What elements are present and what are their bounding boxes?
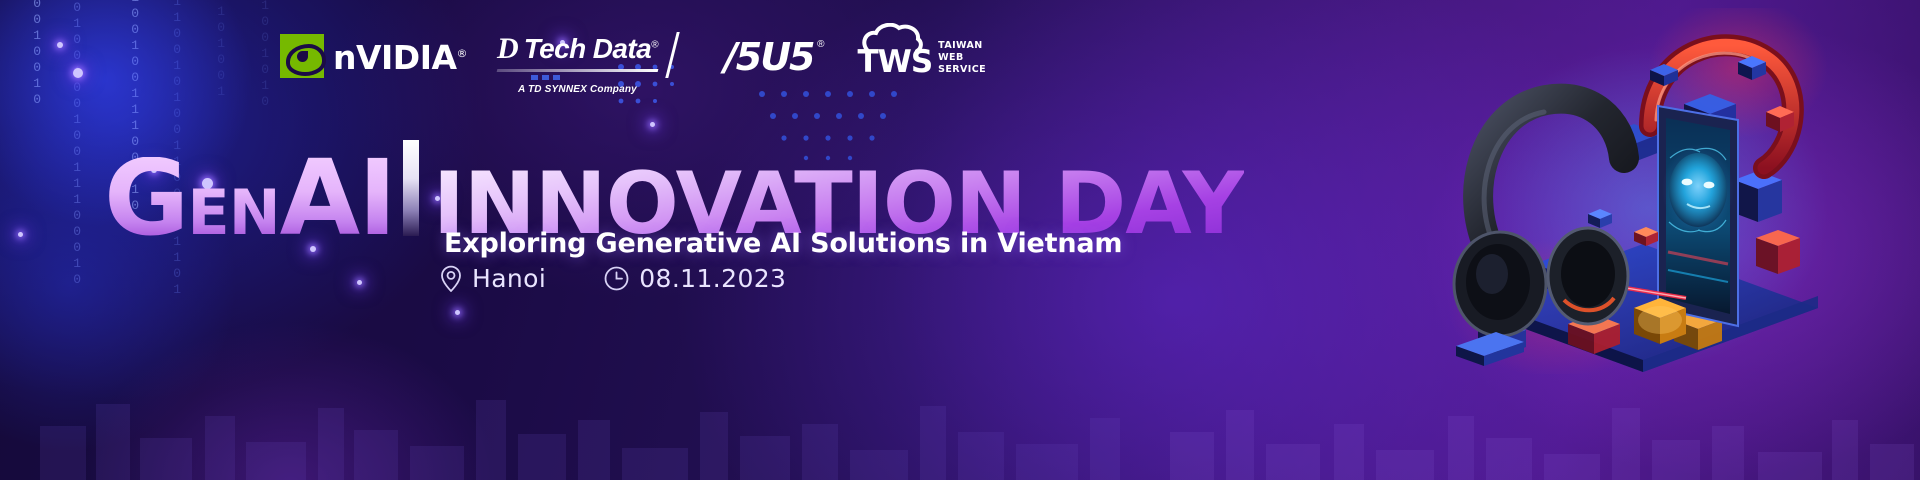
tws-subline-3: SERVICE [938, 64, 986, 76]
sparkle [57, 42, 63, 48]
nvidia-trademark: ® [457, 47, 468, 60]
event-meta-row: Hanoi 08.11.2023 [440, 264, 786, 293]
genai-innovation-day-banner: 0010010 1010010010011100010 100100111000… [0, 0, 1920, 480]
logo-nvidia[interactable]: nVIDIA® [280, 34, 467, 78]
headline-block: GENAI INNOVATION DAY [104, 140, 1244, 240]
genai-wordmark: GENAI [104, 157, 395, 240]
asus-wordmark: /5U5 [724, 35, 814, 79]
logo-techdata[interactable]: D Tech Data® A TD SYNNEX Company [497, 34, 676, 95]
binary-column: 1001010 [258, 0, 272, 110]
binary-column: 0101001 [214, 0, 228, 100]
location-pin-icon [440, 265, 462, 292]
sparkle [650, 122, 655, 127]
asus-registered: ® [817, 39, 824, 50]
techdata-wordmark: Tech Data® [524, 35, 658, 63]
techdata-underbar [497, 69, 659, 72]
sparkle [73, 68, 83, 78]
techdata-tagline: A TD SYNNEX Company [497, 84, 658, 95]
purple-glow-bottom-left [80, 320, 500, 480]
tablet-with-ai-face [1658, 106, 1738, 326]
meta-location: Hanoi [440, 264, 546, 293]
logo-asus[interactable]: /5U5 ® [724, 38, 814, 76]
headline-divider-bar [403, 140, 419, 236]
binary-column: 1010010010011100010 [70, 0, 84, 288]
meta-date-label: 08.11.2023 [639, 264, 786, 293]
nvidia-wordmark: nVIDIA® [333, 41, 467, 74]
city-skyline-silhouette [0, 330, 1200, 480]
tws-subline-2: WEB [938, 52, 986, 64]
event-subtitle: Exploring Generative AI Solutions in Vie… [444, 228, 1122, 259]
techdata-slash-accent [665, 32, 679, 78]
techdata-square-accents [531, 75, 658, 80]
clock-icon [604, 266, 629, 291]
sparkle [357, 280, 362, 285]
techdata-d-mark: D [497, 34, 518, 64]
logo-tws[interactable]: TWS TAIWAN WEB SERVICE [858, 40, 986, 78]
techdata-registered: ® [651, 40, 658, 51]
tws-sublines: TAIWAN WEB SERVICE [938, 40, 986, 78]
sparkle [455, 310, 460, 315]
meta-date: 08.11.2023 [604, 264, 786, 293]
sparkle [18, 232, 23, 237]
nvidia-eye-logo-icon [280, 34, 324, 78]
meta-location-label: Hanoi [472, 264, 546, 293]
cloud-icon [862, 23, 926, 53]
tws-subline-1: TAIWAN [938, 40, 986, 52]
partner-logo-strip: nVIDIA® D Tech Data® A TD SYNNEX Company… [280, 34, 986, 95]
binary-column: 0010010 [30, 0, 44, 108]
ai-tech-illustration [1438, 8, 1838, 374]
techdata-row: D Tech Data® [497, 34, 658, 64]
